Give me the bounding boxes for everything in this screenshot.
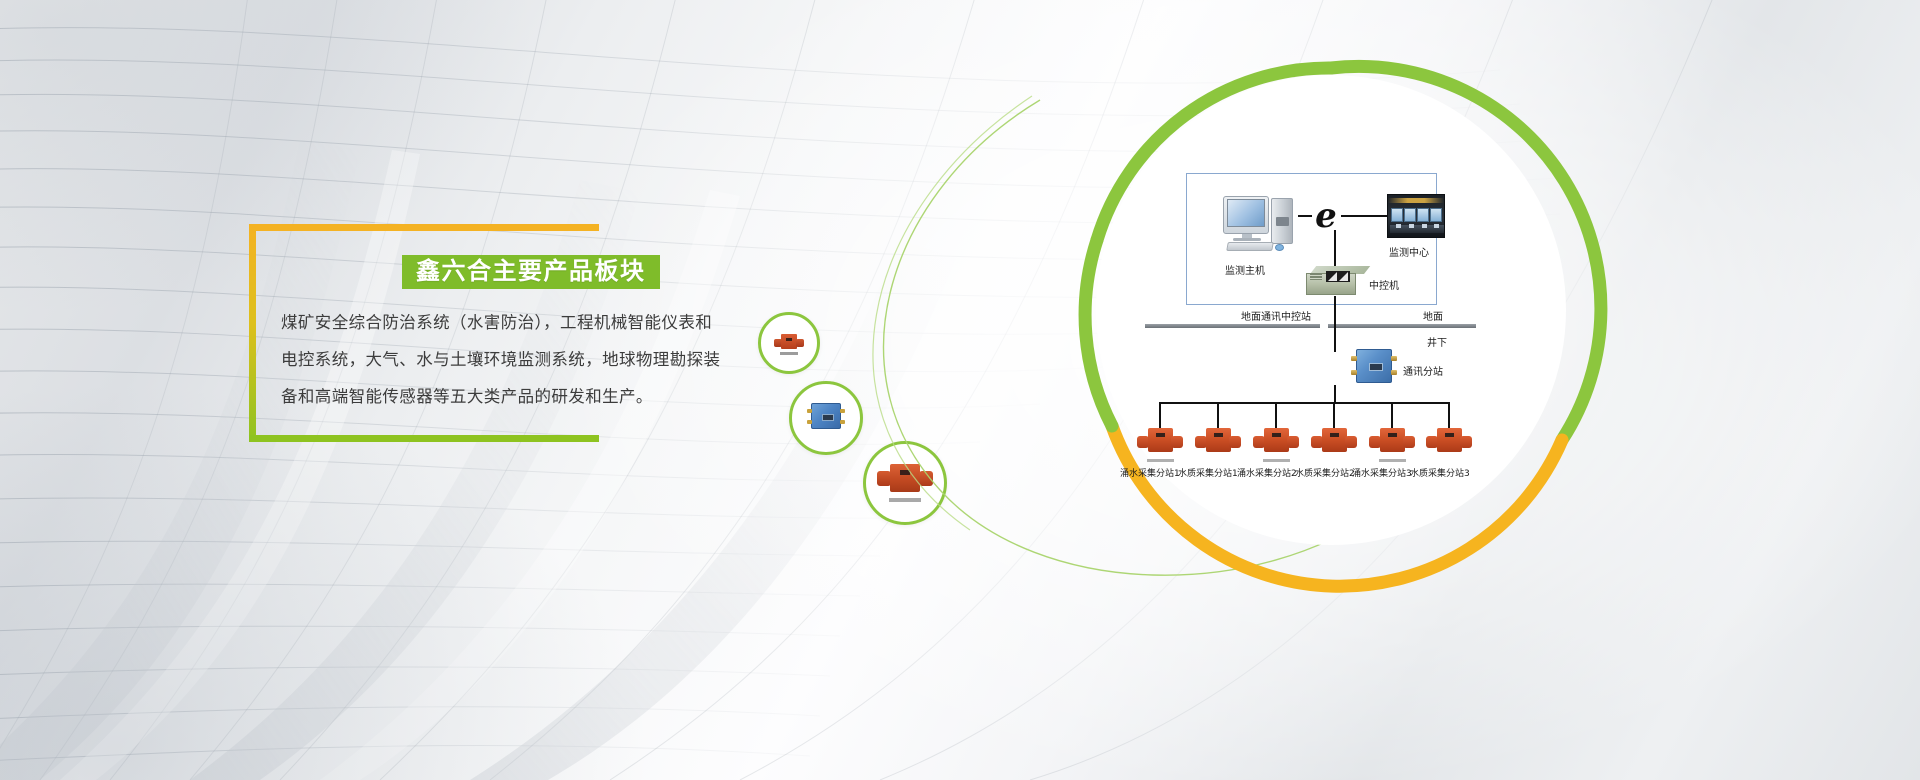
substation-label-5: 涌水采集分站3 — [1352, 466, 1412, 479]
substation-node-3[interactable] — [1253, 428, 1299, 462]
substation-label-3: 涌水采集分站2 — [1237, 466, 1297, 479]
label-underground: 井下 — [1427, 334, 1447, 349]
substation-node-6[interactable] — [1426, 428, 1472, 462]
wire-drop-6 — [1448, 402, 1450, 428]
banner-stage: 鑫六合主要产品板块 煤矿安全综合防治系统（水害防治），工程机械智能仪表和 电控系… — [0, 0, 1920, 780]
label-monitor-host: 监测主机 — [1225, 262, 1265, 277]
description-paragraph: 煤矿安全综合防治系统（水害防治），工程机械智能仪表和 电控系统，大气、水与土壤环… — [281, 305, 711, 416]
substation-label-1: 涌水采集分站1 — [1120, 466, 1180, 479]
wire-host-to-cloud — [1298, 215, 1312, 217]
label-surface: 地面 — [1423, 308, 1443, 323]
description-line-2: 电控系统，大气、水与土壤环境监测系统，地球物理勘探装 — [281, 342, 711, 379]
substation-node-4[interactable] — [1311, 428, 1357, 462]
label-surface-station: 地面通讯中控站 — [1241, 308, 1311, 323]
frame-border-bottom — [249, 435, 599, 442]
wire-horizontal-bus — [1159, 402, 1449, 404]
wire-cloud-to-server — [1334, 230, 1336, 268]
description-line-1: 煤矿安全综合防治系统（水害防治），工程机械智能仪表和 — [281, 305, 711, 342]
wire-drop-4 — [1333, 402, 1335, 428]
internet-cloud-e-icon: e — [1308, 198, 1344, 234]
label-monitor-center: 监测中心 — [1389, 244, 1429, 259]
wire-substation-down — [1334, 385, 1336, 403]
wire-drop-1 — [1159, 402, 1161, 428]
description-line-3: 备和高端智能传感器等五大类产品的研发和生产。 — [281, 379, 711, 416]
wire-cloud-to-center — [1341, 215, 1387, 217]
wire-drop-2 — [1217, 402, 1219, 428]
frame-border-top — [249, 224, 599, 231]
frame-border-left — [249, 224, 256, 442]
wire-drop-3 — [1275, 402, 1277, 428]
section-title-banner: 鑫六合主要产品板块 — [402, 255, 660, 289]
substation-label-2: 水质采集分站1 — [1178, 466, 1238, 479]
monitor-host-icon — [1223, 194, 1297, 256]
substation-node-5[interactable] — [1369, 428, 1415, 462]
substation-node-2[interactable] — [1195, 428, 1241, 462]
ground-separator-line — [1145, 324, 1476, 328]
monitor-center-icon — [1387, 194, 1445, 238]
substation-label-4: 水质采集分站2 — [1295, 466, 1355, 479]
substation-node-1[interactable] — [1137, 428, 1183, 462]
label-central-control: 中控机 — [1369, 277, 1399, 292]
comm-substation-icon — [1351, 349, 1397, 387]
wire-drop-5 — [1391, 402, 1393, 428]
page-title: 鑫六合主要产品板块 — [416, 260, 646, 284]
central-control-server-icon — [1306, 266, 1364, 298]
system-architecture-diagram: 监测主机 e 监测中心 中控机 地面通讯中控站 地面 井下 — [1093, 72, 1569, 548]
ground-line-gap — [1320, 322, 1328, 330]
label-comm-substation: 通讯分站 — [1403, 363, 1443, 378]
wire-server-to-substation — [1334, 296, 1336, 352]
substation-label-6: 水质采集分站3 — [1410, 466, 1470, 479]
